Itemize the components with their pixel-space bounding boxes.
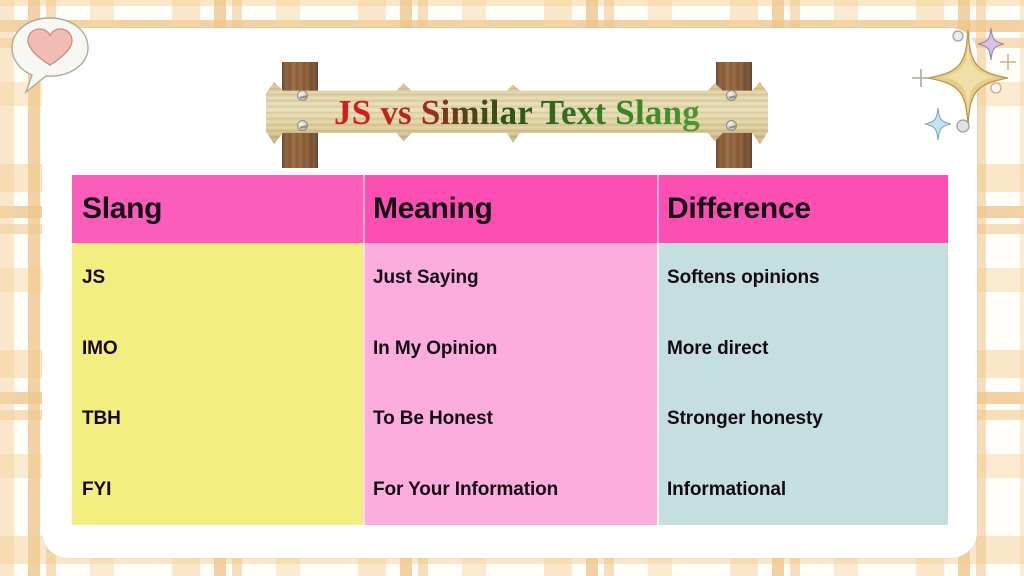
column-divider xyxy=(363,175,365,525)
table-cell-slang: FYI xyxy=(72,455,363,526)
sparkle-star-purple-icon xyxy=(978,28,1004,60)
table-cell-meaning: In My Opinion xyxy=(363,314,657,385)
column-divider xyxy=(657,175,659,525)
heart-speech-bubble-icon xyxy=(4,8,96,100)
table-cell-slang: IMO xyxy=(72,314,363,385)
plus-icon xyxy=(1000,54,1016,70)
wooden-sign: JS vs Similar Text Slang xyxy=(266,62,768,168)
table-cell-meaning: To Be Honest xyxy=(363,384,657,455)
plus-icon xyxy=(912,69,930,87)
slide-canvas: JS vs Similar Text Slang Slang Meaning D… xyxy=(0,0,1024,576)
table-cell-slang: JS xyxy=(72,243,363,314)
sparkle-star-blue-icon xyxy=(925,108,951,140)
table-cell-meaning: For Your Information xyxy=(363,455,657,526)
table-cell-difference: Softens opinions xyxy=(657,243,948,314)
table-cell-slang: TBH xyxy=(72,384,363,455)
dot-icon xyxy=(957,120,969,132)
page-title: JS vs Similar Text Slang xyxy=(266,82,768,144)
table-header-slang: Slang xyxy=(72,175,363,243)
slang-comparison-table: Slang Meaning Difference JS Just Saying … xyxy=(72,175,948,525)
table-cell-difference: Informational xyxy=(657,455,948,526)
table-cell-meaning: Just Saying xyxy=(363,243,657,314)
table-header-difference: Difference xyxy=(657,175,948,243)
dot-icon xyxy=(953,31,963,41)
table-header-meaning: Meaning xyxy=(363,175,657,243)
table-cell-difference: Stronger honesty xyxy=(657,384,948,455)
sparkle-cluster xyxy=(896,0,1024,146)
dot-icon xyxy=(991,83,1001,93)
table-cell-difference: More direct xyxy=(657,314,948,385)
